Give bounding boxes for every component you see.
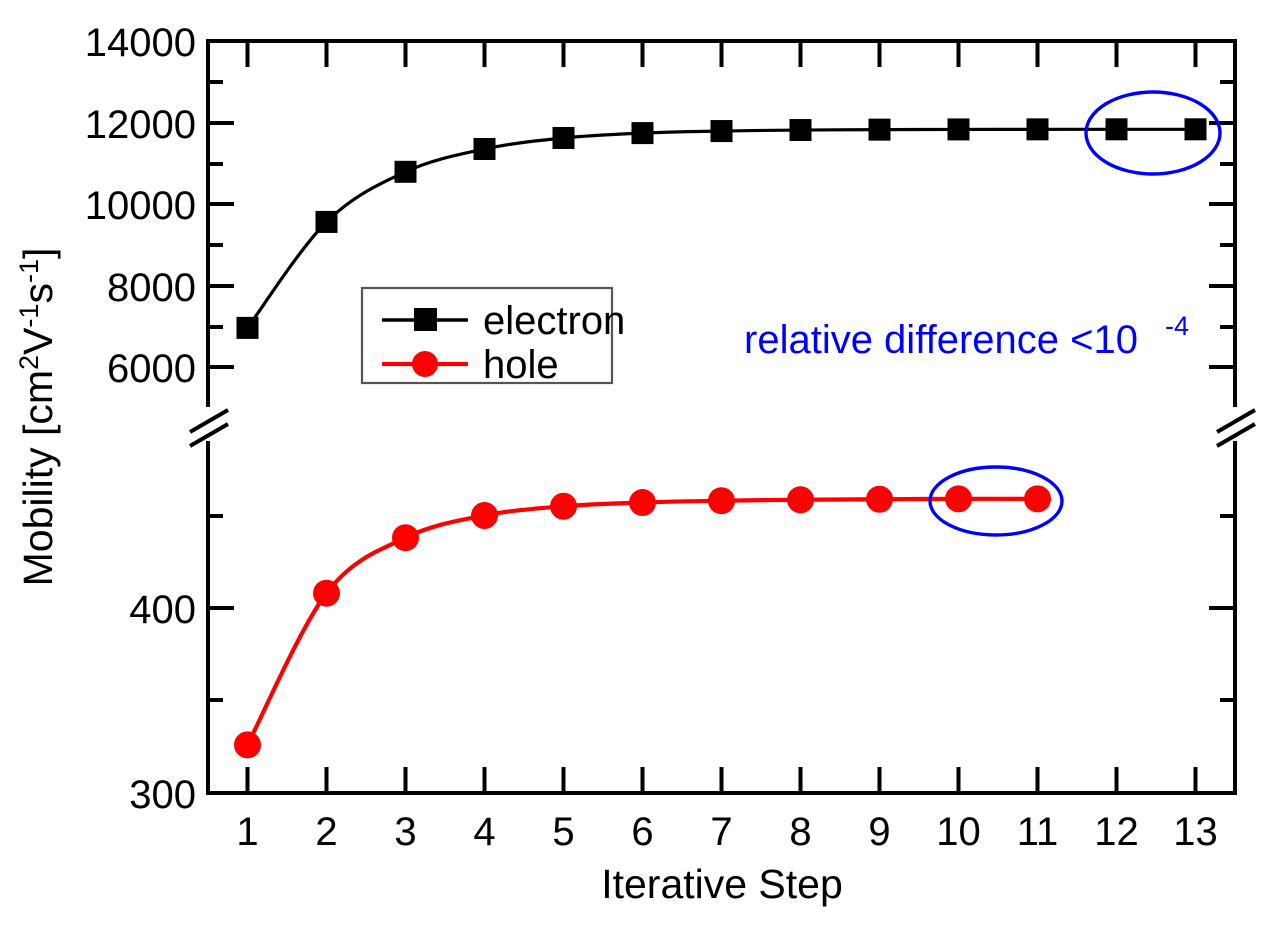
legend-label-electron: electron (483, 299, 625, 343)
electron-marker-2 (316, 211, 338, 233)
y-ticklabel-400: 400 (129, 588, 196, 632)
y-axis-title-sup2: -1 (14, 304, 44, 328)
x-tick-labels: 12345678910111213 (236, 810, 1217, 854)
y-axis-title-sup1: 2 (14, 355, 44, 370)
hole-marker-8 (787, 486, 814, 513)
electron-marker-11 (1027, 118, 1049, 140)
y-axis-title-sup3: -1 (14, 259, 44, 283)
legend-marker-square-icon (414, 308, 437, 331)
hole-markers (234, 485, 1051, 758)
y-axis-title-mid2: s (15, 283, 61, 304)
x-ticklabel-4: 4 (473, 810, 495, 854)
y-axis-title-text: Mobility [cm2V-1s-1] (14, 248, 61, 587)
electron-marker-5 (553, 127, 575, 149)
relative-difference-annotation: relative difference <10 -4 (744, 311, 1189, 362)
series-hole (234, 485, 1051, 758)
hole-marker-11 (1024, 485, 1051, 512)
hole-marker-10 (945, 485, 972, 512)
electron-marker-10 (948, 118, 970, 140)
y-ticklabel-10000: 10000 (85, 184, 196, 228)
annotation-superscript: -4 (1165, 311, 1189, 341)
electron-marker-7 (711, 120, 733, 142)
mobility-convergence-chart: 14000 12000 10000 8000 6000 400 300 1234… (0, 0, 1276, 932)
x-ticklabel-3: 3 (394, 810, 416, 854)
electron-marker-12 (1106, 118, 1128, 140)
legend[interactable]: electron hole (362, 288, 625, 387)
x-axis-title: Iterative Step (601, 861, 843, 907)
y-ticklabel-12000: 12000 (85, 103, 196, 147)
y-axis-title-mid1: V (15, 327, 61, 355)
hole-line (248, 499, 1038, 745)
hole-marker-9 (866, 486, 893, 513)
electron-marker-8 (790, 119, 812, 141)
y-ticklabel-6000: 6000 (107, 347, 196, 391)
hole-marker-6 (629, 489, 656, 516)
legend-label-hole: hole (483, 343, 559, 387)
x-ticklabel-12: 12 (1094, 810, 1139, 854)
x-ticklabel-5: 5 (552, 810, 574, 854)
y-tick-labels: 14000 12000 10000 8000 6000 400 300 (85, 21, 196, 817)
x-ticks (248, 41, 1196, 793)
x-ticklabel-8: 8 (789, 810, 811, 854)
x-ticklabel-10: 10 (936, 810, 981, 854)
electron-marker-3 (395, 161, 417, 183)
electron-marker-6 (632, 122, 654, 144)
x-ticklabel-13: 13 (1173, 810, 1218, 854)
y-ticklabel-300: 300 (129, 773, 196, 817)
y-axis-title-prefix: Mobility [cm (15, 370, 61, 586)
y-axis-title-suffix: ] (15, 248, 61, 259)
annotation-main-text: relative difference <10 (744, 318, 1138, 362)
plot-frame (208, 41, 1235, 793)
x-ticklabel-6: 6 (631, 810, 653, 854)
x-ticklabel-9: 9 (868, 810, 890, 854)
axis-break-marks (190, 410, 1255, 446)
y-ticklabel-8000: 8000 (107, 266, 196, 310)
legend-marker-circle-icon (412, 351, 438, 377)
x-axis-title-text: Iterative Step (601, 861, 843, 907)
electron-marker-13 (1185, 118, 1207, 140)
electron-marker-9 (869, 119, 891, 141)
x-ticklabel-2: 2 (315, 810, 337, 854)
hole-marker-5 (550, 493, 577, 520)
hole-marker-4 (471, 502, 498, 529)
electron-marker-4 (474, 138, 496, 160)
hole-marker-2 (313, 580, 340, 607)
y-axis-title: Mobility [cm2V-1s-1] (14, 248, 61, 587)
y-ticklabel-14000: 14000 (85, 21, 196, 65)
x-ticklabel-1: 1 (236, 810, 258, 854)
electron-marker-1 (237, 317, 259, 339)
chart-figure: 14000 12000 10000 8000 6000 400 300 1234… (0, 0, 1276, 932)
hole-marker-3 (392, 524, 419, 551)
hole-marker-1 (234, 731, 261, 758)
hole-marker-7 (708, 487, 735, 514)
x-ticklabel-7: 7 (710, 810, 732, 854)
x-ticklabel-11: 11 (1017, 810, 1059, 854)
